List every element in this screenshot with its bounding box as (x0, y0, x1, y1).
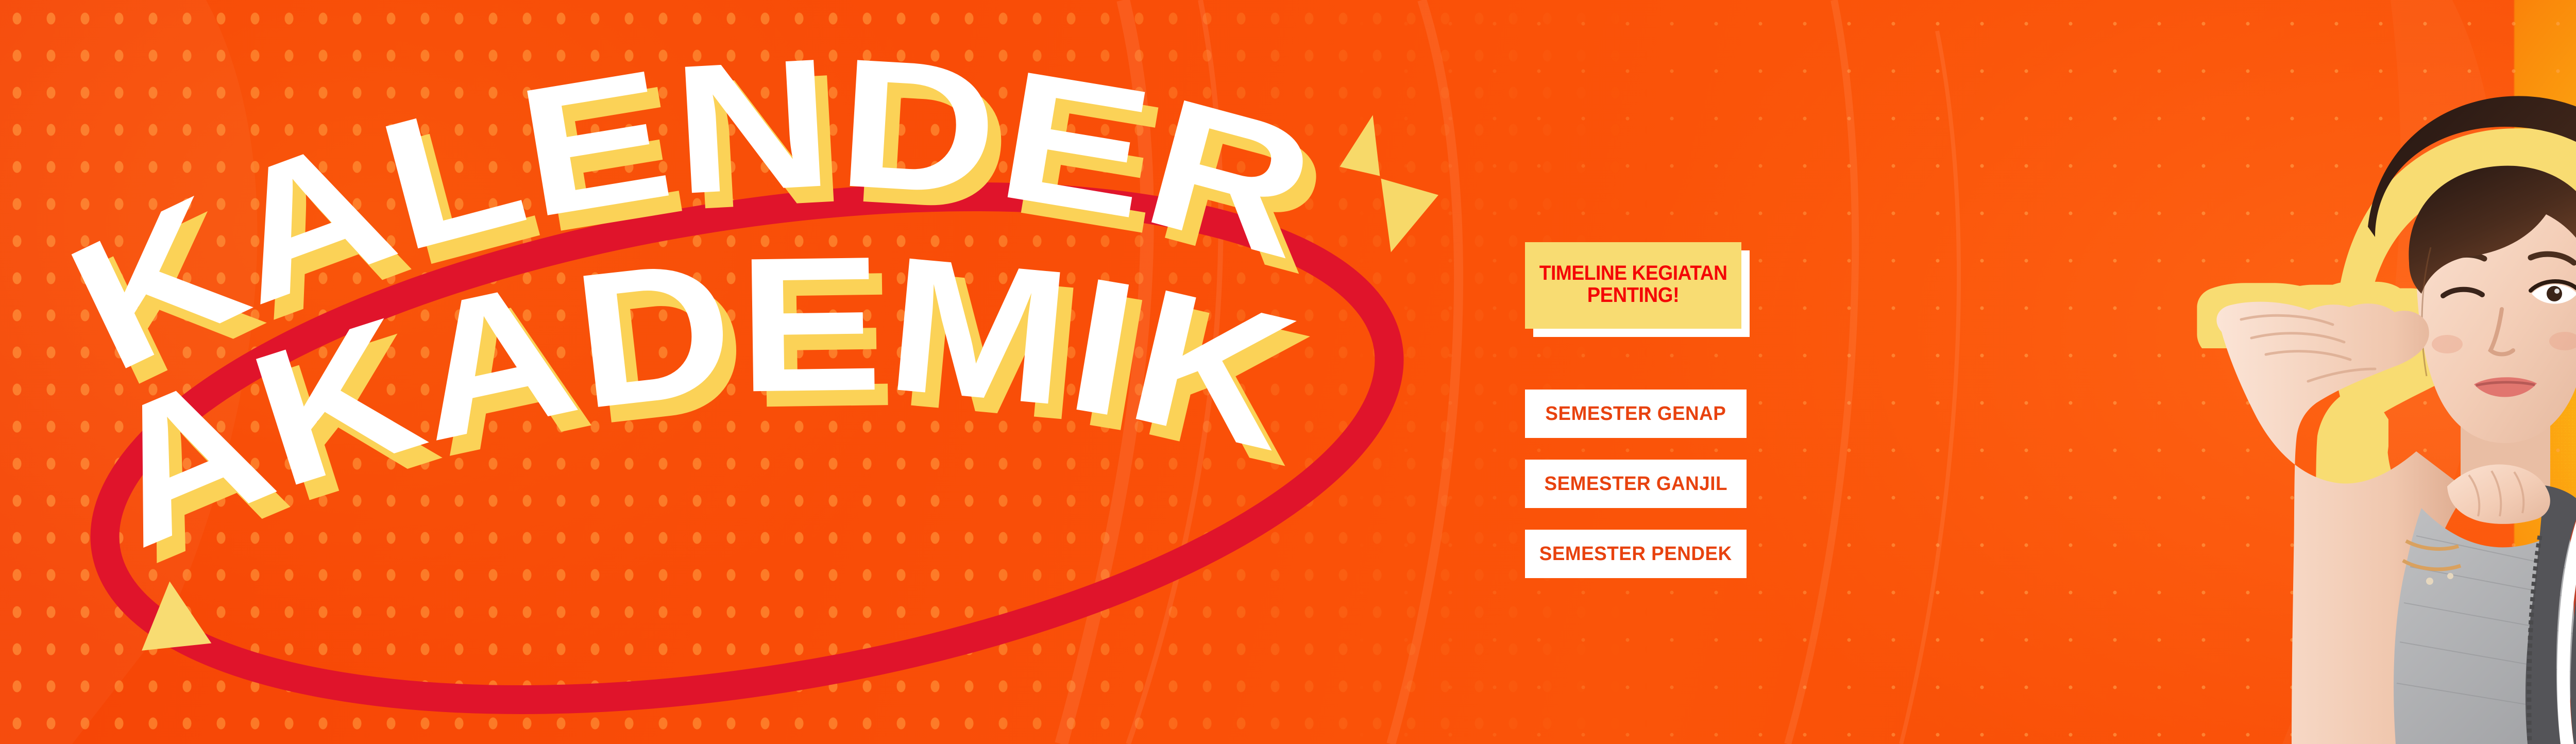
student-photo-cutout: itenas Institut Teknologi Nasional (2087, 21, 2576, 744)
semester-chip-ganjil[interactable]: SEMESTER GANJIL (1525, 460, 1747, 508)
semester-chip-label: SEMESTER GENAP (1546, 403, 1726, 425)
hero-chip-wrapper: TIMELINE KEGIATAN PENTING! (1525, 242, 1741, 329)
timeline-hero-chip[interactable]: TIMELINE KEGIATAN PENTING! (1525, 242, 1741, 329)
semester-chip-pendek[interactable]: SEMESTER PENDEK (1525, 530, 1747, 578)
hero-line-2: PENTING! (1587, 284, 1679, 307)
academic-calendar-banner: KALENDER KALENDER AKADEMIK AKADEMIK TIME… (0, 0, 2576, 744)
info-panel: TIMELINE KEGIATAN PENTING! SEMESTER GENA… (1525, 242, 1772, 578)
semester-chip-label: SEMESTER PENDEK (1539, 543, 1732, 565)
page-title: KALENDER KALENDER AKADEMIK AKADEMIK (77, 88, 1494, 665)
semester-chip-genap[interactable]: SEMESTER GENAP (1525, 390, 1747, 438)
semester-chip-label: SEMESTER GANJIL (1544, 473, 1727, 495)
hero-line-1: TIMELINE KEGIATAN (1539, 262, 1727, 284)
semester-chip-list: SEMESTER GENAP SEMESTER GANJIL SEMESTER … (1525, 390, 1772, 578)
